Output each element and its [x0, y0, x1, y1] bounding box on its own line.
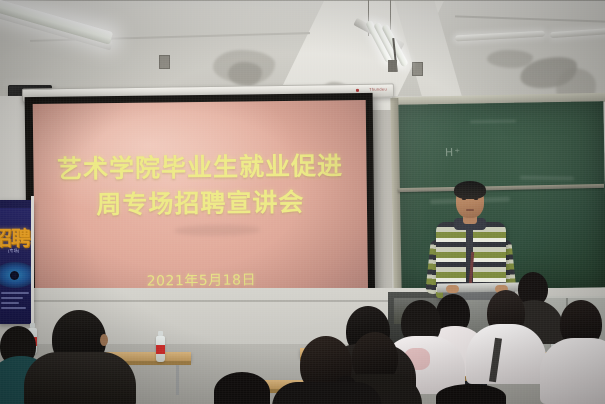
audience-torso [272, 382, 382, 404]
audience-silhouette [436, 384, 506, 404]
chalkboard-writing: H⁺ [445, 146, 461, 159]
presenter-hand [446, 285, 459, 293]
slide-title-line-1: 艺术学院毕业生就业促进 [41, 148, 358, 187]
banner-text-lines [1, 292, 29, 312]
water-bottle [156, 336, 165, 362]
banner-headline: 招聘 [0, 222, 30, 251]
presenter-eye [462, 198, 466, 200]
presenter-hair [454, 181, 486, 199]
slide-title: 艺术学院毕业生就业促进 周专场招聘宣讲会 [33, 148, 367, 223]
banner-header-strip [0, 200, 32, 208]
audience-torso [466, 324, 546, 384]
wall-socket[interactable] [412, 62, 423, 76]
wall-peeling-paint [487, 50, 533, 68]
banner-eye-graphic [0, 262, 33, 288]
presenter-eye [474, 198, 478, 200]
classroom-photo: H⁺ Thundeu 艺术学院毕业生就业促进 周专场招聘宣讲会 2021年5月1… [0, 0, 605, 404]
brand-dot-icon [356, 89, 359, 92]
screen-smudge [174, 224, 261, 236]
light-suspension-wire [390, 0, 391, 30]
projector-screen-surface: 艺术学院毕业生就业促进 周专场招聘宣讲会 2021年5月18日 [33, 100, 369, 316]
banner-subline: (专场) [8, 248, 19, 254]
wall-seam [0, 0, 605, 1]
recruitment-banner: 招聘 (专场) [0, 200, 33, 324]
audience-silhouette [214, 372, 270, 404]
light-junction-box [388, 60, 397, 72]
audience-ear [100, 334, 108, 346]
desk-leg [176, 365, 179, 395]
screen-brand-label: Thundeu [369, 87, 387, 92]
slide-title-line-2: 周专场招聘宣讲会 [42, 184, 359, 223]
wall-damp-patch [228, 62, 262, 86]
audience-torso [540, 338, 605, 404]
banner-frame-edge [31, 196, 34, 328]
presenter-mouth [466, 209, 474, 211]
wall-socket[interactable] [159, 55, 170, 69]
audience-torso [24, 352, 136, 404]
